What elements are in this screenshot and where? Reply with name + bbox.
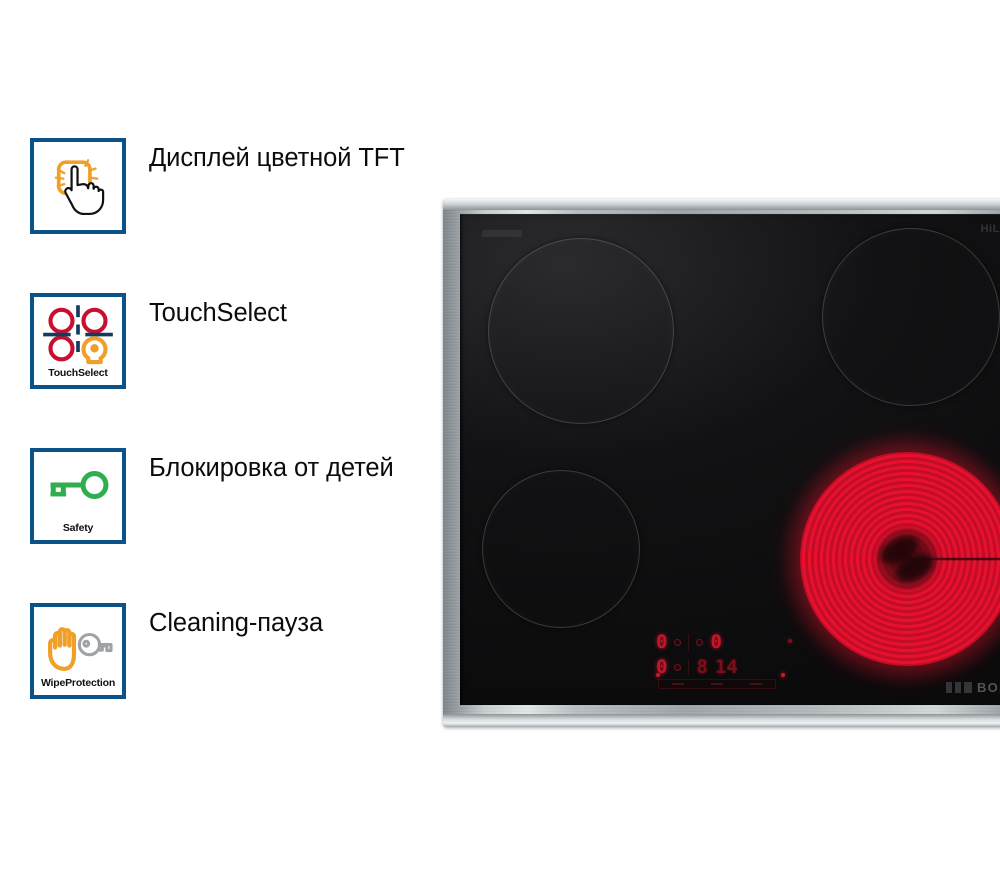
display-row-top: 0 0 bbox=[656, 631, 826, 654]
frame-top-highlight bbox=[443, 199, 1000, 210]
bosch-logo: BOSCH bbox=[946, 680, 1000, 695]
feature-item-tft-display: Дисплей цветной TFT bbox=[30, 138, 430, 234]
cooktop-product-image: HiLight quick 0 0 0 bbox=[443, 199, 1000, 727]
touchselect-icon: TouchSelect bbox=[30, 293, 126, 389]
feature-item-child-lock: Safety Блокировка от детей bbox=[30, 448, 430, 544]
bosch-logo-mark bbox=[946, 682, 972, 693]
touch-control-panel[interactable]: 0 0 0 8 14 bbox=[656, 631, 826, 693]
icon-caption: TouchSelect bbox=[34, 368, 122, 379]
display-digit-front-right: 8 bbox=[696, 658, 707, 677]
cooking-zone-rear-right[interactable] bbox=[822, 228, 1000, 406]
icon-caption: WipeProtection bbox=[34, 678, 122, 689]
wipeprotection-icon: WipeProtection bbox=[30, 603, 126, 699]
display-digit-rear-right: 0 bbox=[710, 633, 721, 652]
bosch-wordmark: BOSCH bbox=[977, 680, 1000, 695]
display-dot-right bbox=[696, 639, 703, 646]
feature-label: Дисплей цветной TFT bbox=[149, 138, 405, 174]
cooking-zone-rear-left[interactable] bbox=[488, 238, 674, 424]
slider-tick bbox=[672, 683, 684, 685]
display-separator bbox=[688, 634, 689, 651]
panel-indicator-led bbox=[781, 673, 785, 677]
feature-item-touchselect: TouchSelect TouchSelect bbox=[30, 293, 430, 389]
feature-label: TouchSelect bbox=[149, 293, 287, 329]
display-digit-rear-left: 0 bbox=[656, 633, 667, 652]
safety-key-icon: Safety bbox=[30, 448, 126, 544]
panel-indicator-led bbox=[656, 673, 660, 677]
display-separator-2 bbox=[688, 659, 689, 676]
feature-label: Блокировка от детей bbox=[149, 448, 394, 484]
slider-tick bbox=[711, 683, 723, 685]
frame-bottom-highlight bbox=[443, 714, 1000, 727]
cooking-zone-front-right-glowing[interactable] bbox=[800, 452, 1000, 666]
glass-marking-top-left bbox=[482, 230, 522, 237]
feature-item-cleaning-pause: WipeProtection Cleaning-пауза bbox=[30, 603, 430, 699]
ceramic-glass-surface: HiLight quick 0 0 0 bbox=[460, 214, 1000, 705]
feature-label: Cleaning-пауза bbox=[149, 603, 323, 639]
hilight-sub-label: quick bbox=[981, 236, 1000, 243]
hilight-zone-marking: HiLight quick bbox=[981, 224, 1000, 242]
display-timer-value: 14 bbox=[715, 658, 738, 677]
icon-caption: Safety bbox=[34, 523, 122, 534]
slider-tick bbox=[750, 683, 762, 685]
touch-display-icon bbox=[30, 138, 126, 234]
cooking-zone-front-left[interactable] bbox=[482, 470, 640, 628]
display-dot-left-2 bbox=[674, 664, 681, 671]
feature-list: Дисплей цветной TFT TouchSelect TouchS bbox=[0, 0, 440, 870]
touch-slider[interactable] bbox=[658, 679, 776, 689]
hilight-label: HiLight bbox=[981, 224, 1000, 236]
panel-indicator-led bbox=[788, 639, 792, 643]
display-row-bottom: 0 8 14 bbox=[656, 656, 826, 679]
touch-display-icon-art bbox=[34, 142, 122, 230]
display-dot-left bbox=[674, 639, 681, 646]
